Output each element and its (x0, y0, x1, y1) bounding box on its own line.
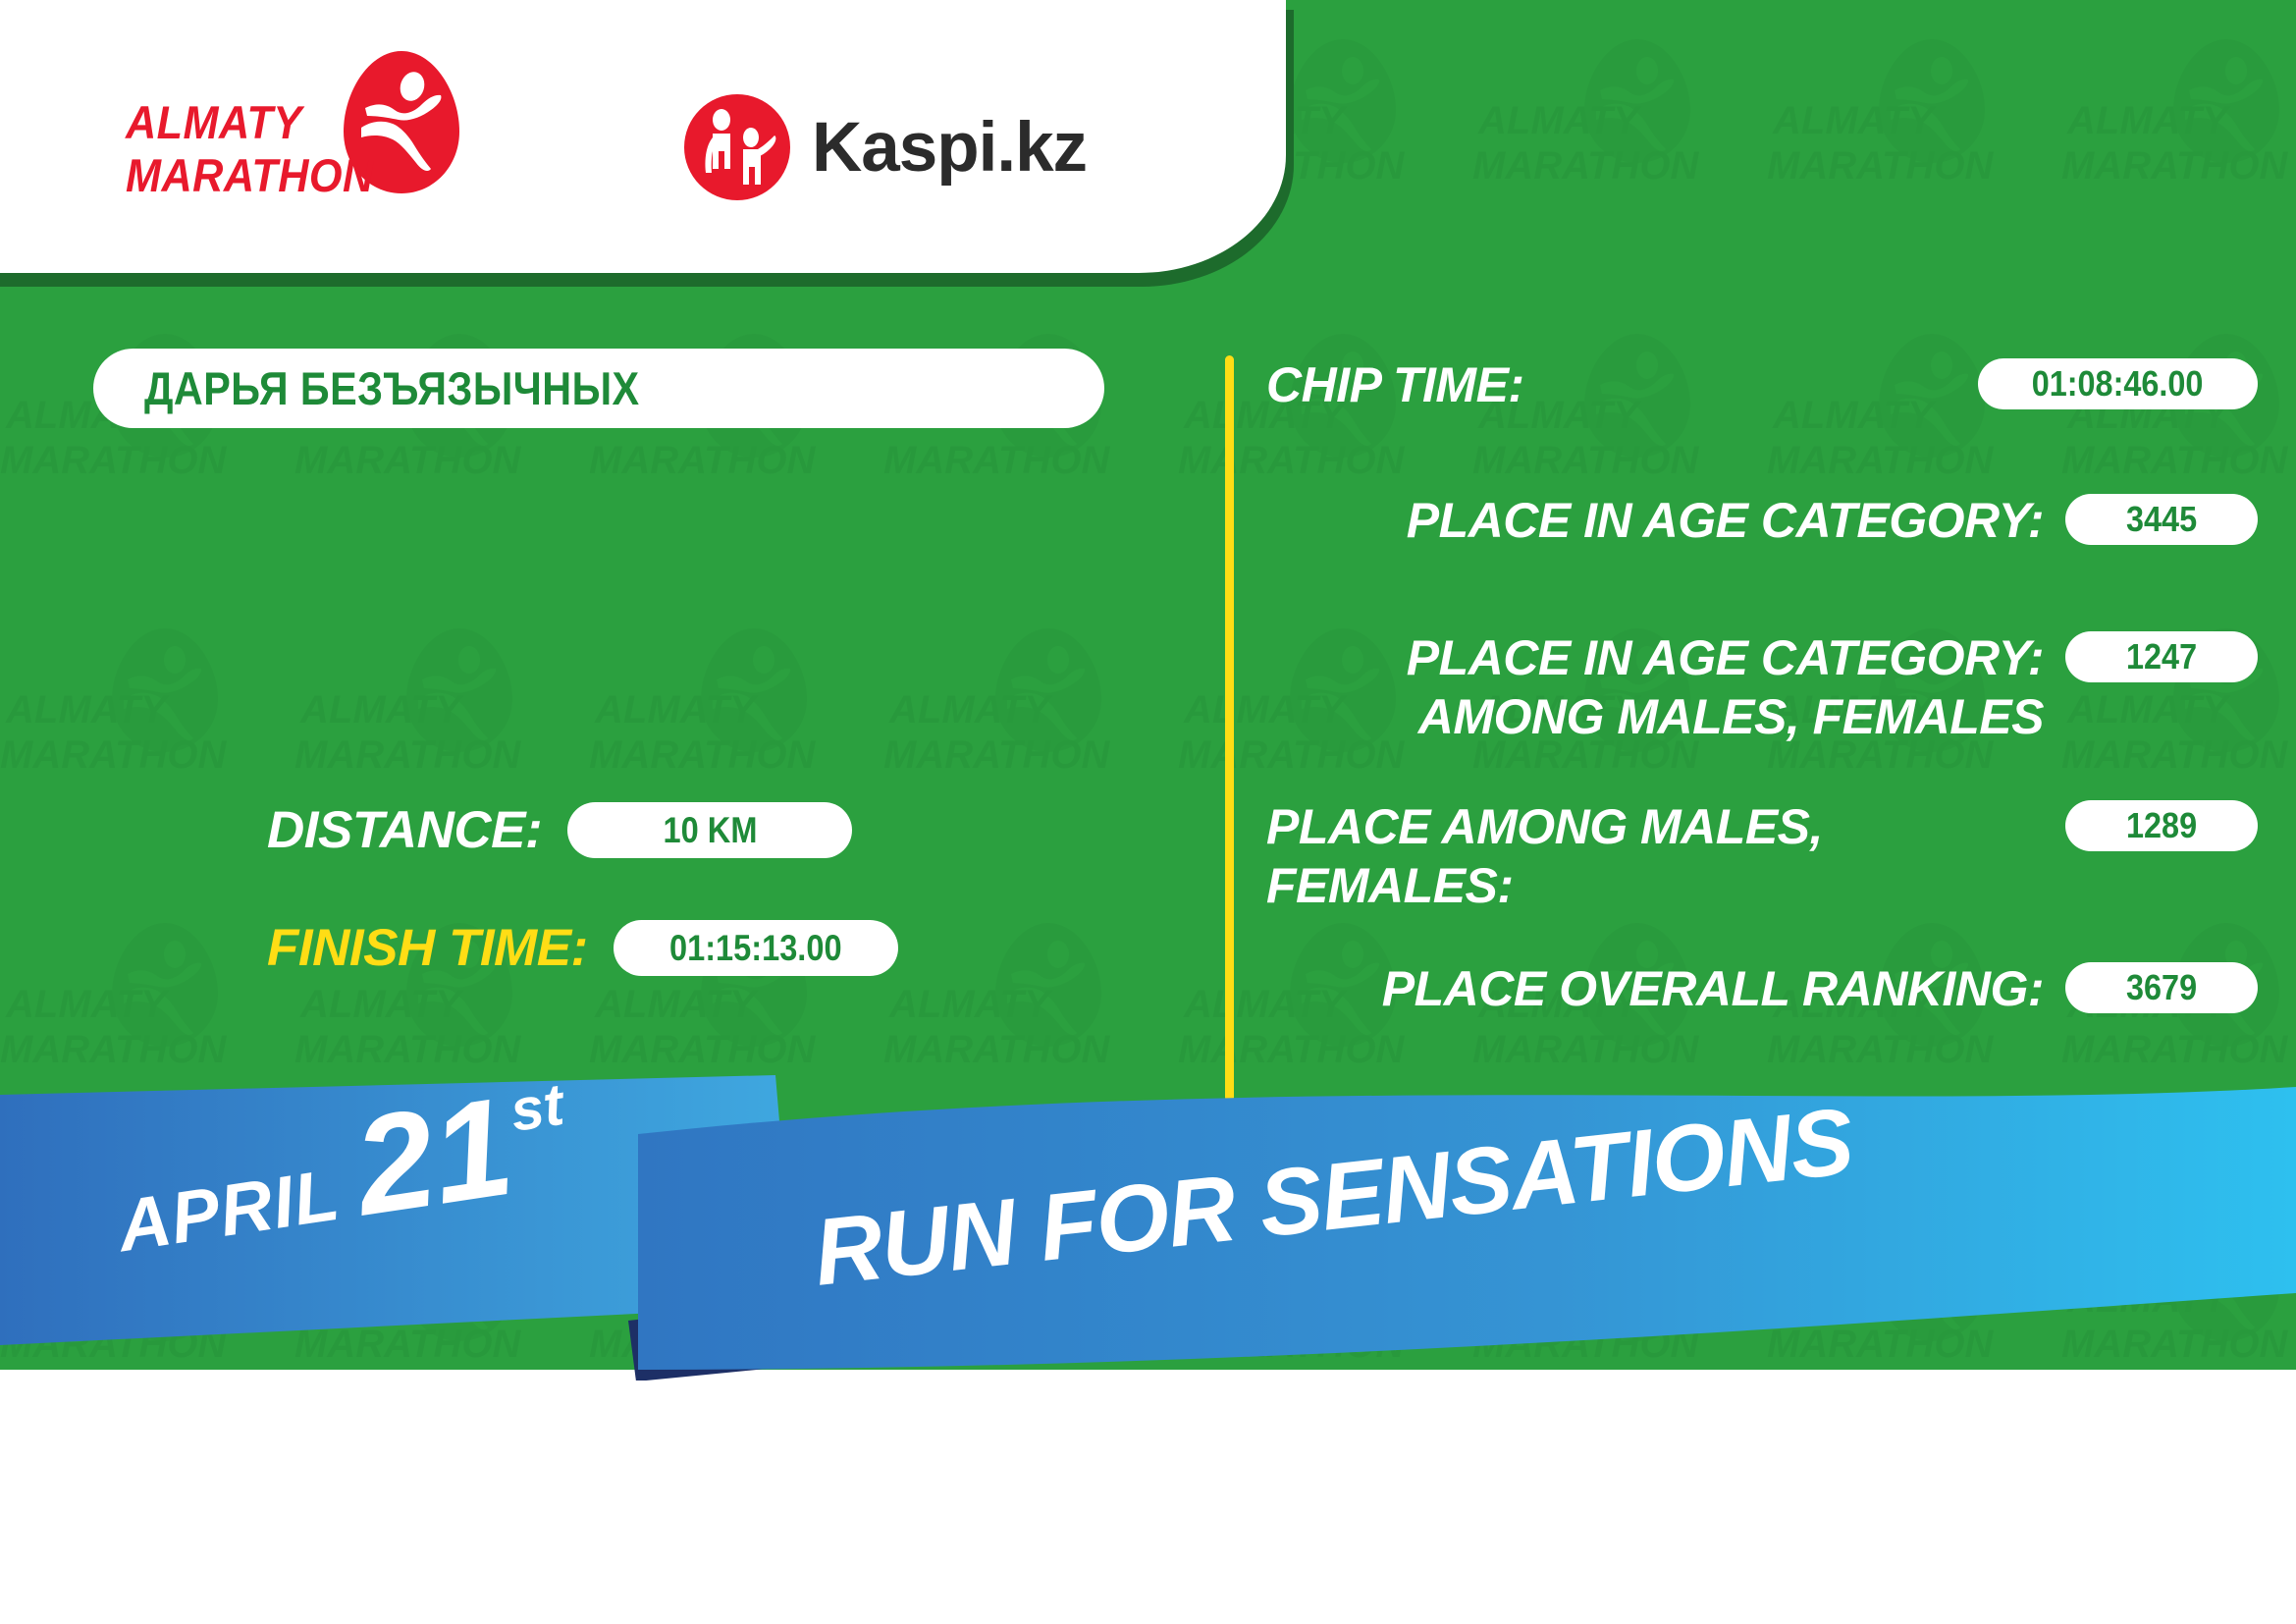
almaty-marathon-line1: ALMATY (126, 96, 374, 149)
finish-time-label: FINISH TIME: (267, 918, 588, 978)
kaspi-wordmark: Kaspi.kz (812, 108, 1087, 188)
stat-value-pill-place-age-category: 3445 (2065, 494, 2258, 545)
stat-label-chip-time: CHIP TIME: (1266, 355, 1956, 414)
stat-value-place-among-males-females: 1289 (2126, 805, 2197, 846)
stat-label-place-overall-ranking: PLACE OVERALL RANKING: (1266, 959, 2044, 1018)
participant-name-field: ДАРЬЯ БЕЗЪЯЗЫЧНЫХ (93, 349, 1104, 428)
stat-row-chip-time: CHIP TIME: 01:08:46.00 (1266, 355, 2258, 414)
ribbon-ordinal: st (506, 1070, 567, 1145)
distance-label: DISTANCE: (267, 800, 542, 860)
stat-value-pill-place-age-category-among: 1247 (2065, 631, 2258, 682)
distance-value-pill: 10 KM (567, 802, 852, 858)
almaty-marathon-wordmark: ALMATY MARATHON (126, 96, 374, 202)
stat-row-place-age-category: PLACE IN AGE CATEGORY: 3445 (1266, 491, 2258, 550)
participant-name-value: ДАРЬЯ БЕЗЪЯЗЫЧНЫХ (144, 361, 640, 415)
stat-value-pill-place-overall-ranking: 3679 (2065, 962, 2258, 1013)
distance-row: DISTANCE: 10 KM (267, 800, 852, 860)
finish-time-row: FINISH TIME: 01:15:13.00 (267, 918, 898, 978)
stat-value-place-age-category: 3445 (2126, 499, 2197, 540)
finish-time-value: 01:15:13.00 (669, 928, 842, 969)
vertical-divider (1225, 355, 1234, 1102)
stat-row-place-among-males-females: PLACE AMONG MALES, FEMALES: 1289 (1266, 797, 2258, 915)
certificate-canvas: ALMATY MARATHON Kaspi.kz CERTIFICATE (0, 0, 2296, 1624)
stat-label-place-age-category: PLACE IN AGE CATEGORY: (1266, 491, 2044, 550)
stat-value-pill-place-among-males-females: 1289 (2065, 800, 2258, 851)
sponsor-strip (0, 1380, 2296, 1624)
almaty-marathon-line2: MARATHON (126, 149, 374, 202)
ribbon-day: 21 (348, 1093, 517, 1222)
stat-label-place-among-males-females: PLACE AMONG MALES, FEMALES: (1266, 797, 2044, 915)
header-logos: ALMATY MARATHON Kaspi.kz (0, 0, 1286, 273)
stat-value-pill-chip-time: 01:08:46.00 (1978, 358, 2258, 409)
stat-row-place-overall-ranking: PLACE OVERALL RANKING: 3679 (1266, 959, 2258, 1018)
kaspi-people-circle-icon (684, 94, 790, 200)
kaspi-logo: Kaspi.kz (684, 94, 1087, 200)
stat-value-place-age-category-among: 1247 (2126, 636, 2197, 677)
stat-label-place-age-category-among: PLACE IN AGE CATEGORY: AMONG MALES, FEMA… (1266, 628, 2044, 746)
stat-value-place-overall-ranking: 3679 (2126, 967, 2197, 1008)
finish-time-value-pill: 01:15:13.00 (614, 920, 898, 976)
distance-value: 10 KM (663, 810, 757, 851)
stat-value-chip-time: 01:08:46.00 (2032, 363, 2204, 405)
stat-row-place-age-category-among: PLACE IN AGE CATEGORY: AMONG MALES, FEMA… (1266, 628, 2258, 746)
almaty-marathon-logo: ALMATY MARATHON (126, 51, 469, 218)
